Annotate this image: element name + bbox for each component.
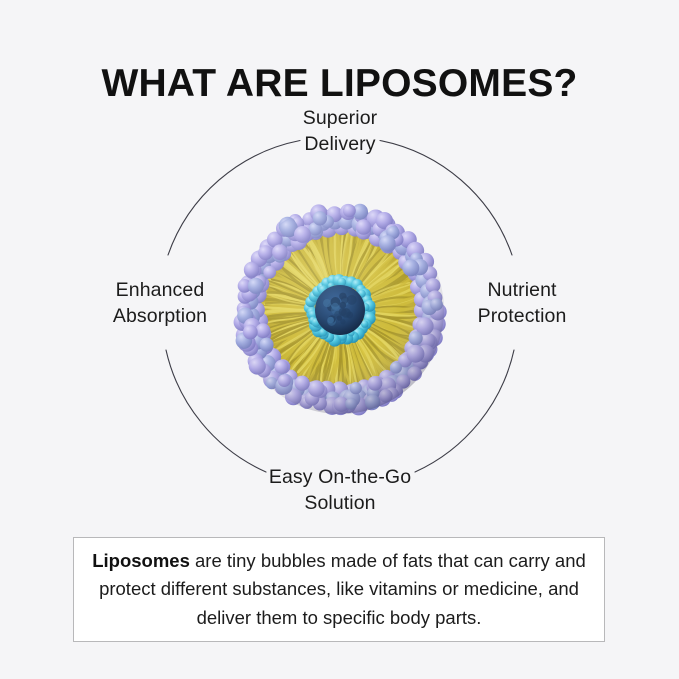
caption-lead-word: Liposomes xyxy=(92,550,190,571)
liposome-svg xyxy=(231,201,449,419)
caption-box: Liposomes are tiny bubbles made of fats … xyxy=(73,537,605,642)
ring-label-superior-delivery: Superior Delivery xyxy=(240,106,440,157)
ring-label-easy-on-the-go-solution: Easy On-the-Go Solution xyxy=(230,465,450,516)
ring-label-nutrient-protection: Nutrient Protection xyxy=(424,278,620,329)
infographic-page: WHAT ARE LIPOSOMES? Superior Delivery En… xyxy=(0,0,679,679)
ring-label-enhanced-absorption: Enhanced Absorption xyxy=(62,278,258,329)
caption-text: Liposomes are tiny bubbles made of fats … xyxy=(74,547,604,631)
benefit-ring-diagram: Superior Delivery Enhanced Absorption Nu… xyxy=(0,95,679,525)
liposome-illustration xyxy=(231,201,449,419)
